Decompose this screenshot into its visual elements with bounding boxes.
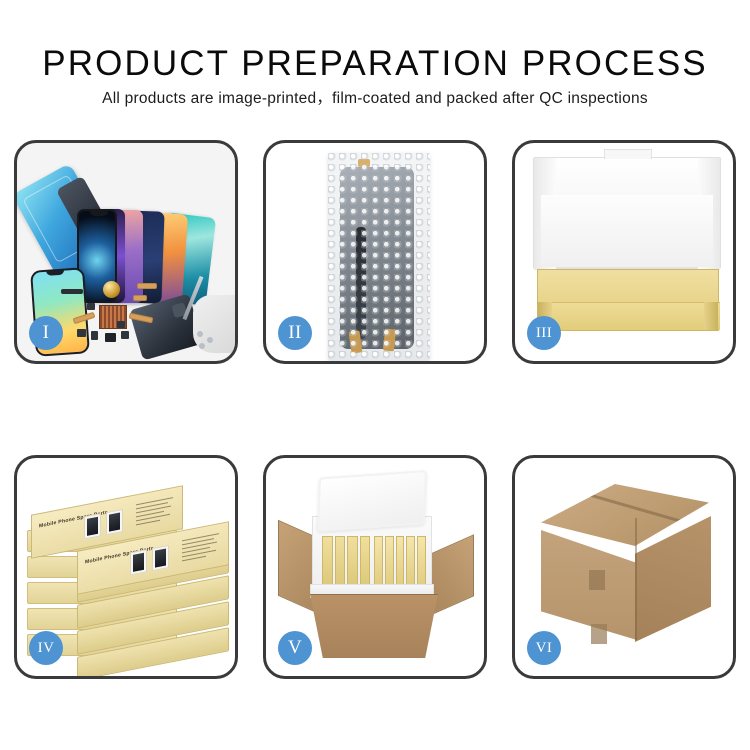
process-step-panel-5[interactable]: V — [263, 455, 487, 679]
process-step-panel-3[interactable]: III — [512, 140, 736, 364]
process-step-panel-6[interactable]: VI — [512, 455, 736, 679]
product-preparation-process-page: PRODUCT PREPARATION PROCESS All products… — [0, 0, 750, 750]
step-badge-3: III — [527, 316, 561, 350]
chip-icon — [87, 303, 95, 310]
box-front-face — [538, 302, 720, 330]
carton-front-face-icon — [310, 594, 438, 658]
product-thumbnail-icon — [152, 545, 169, 571]
product-thumbnail-icon — [130, 549, 147, 575]
step-badge-4: IV — [29, 631, 63, 665]
process-step-panel-2[interactable]: II — [263, 140, 487, 364]
kraft-box-base-icon — [537, 269, 719, 331]
chip-icon — [121, 331, 129, 339]
page-subtitle: All products are image-printed，film-coat… — [0, 89, 750, 109]
carton-tape-icon — [589, 570, 605, 590]
box-right-corner — [704, 302, 718, 330]
step-badge-1: I — [29, 316, 63, 350]
chip-icon — [91, 331, 98, 340]
yellow-boxes-group — [374, 536, 426, 586]
carton-vertical-edge — [635, 518, 637, 640]
step-badge-6: VI — [527, 631, 561, 665]
chip-icon — [77, 329, 86, 337]
earpiece-bar-icon — [61, 289, 83, 294]
bubble-wrap-bag-icon — [328, 153, 430, 361]
process-step-panel-4[interactable]: Mobile Phone Spare Parts Mobile Phone Sp… — [14, 455, 238, 679]
flex-cable-icon — [137, 283, 157, 289]
box-spec-lines — [182, 533, 222, 568]
carton-seam — [573, 489, 693, 526]
foam-box-lid-icon — [317, 470, 427, 532]
page-header: PRODUCT PREPARATION PROCESS All products… — [0, 0, 750, 130]
page-title: PRODUCT PREPARATION PROCESS — [0, 44, 750, 84]
box-spec-lines — [136, 497, 176, 532]
lid-tab-icon — [604, 149, 652, 159]
flex-cable-icon — [133, 295, 147, 301]
process-steps-grid: I II — [14, 140, 737, 683]
foam-sheet-icon — [541, 195, 713, 267]
yellow-boxes-group — [322, 536, 370, 586]
speaker-coil-icon — [103, 281, 120, 298]
step-badge-5: V — [278, 631, 312, 665]
process-step-panel-1[interactable]: I — [14, 140, 238, 364]
chip-icon — [117, 321, 125, 328]
product-thumbnail-icon — [84, 513, 101, 539]
bubble-texture-overlay — [328, 153, 430, 361]
step-badge-2: II — [278, 316, 312, 350]
chip-icon — [105, 333, 116, 342]
product-thumbnail-icon — [106, 509, 123, 535]
carton-tape-icon — [591, 624, 607, 644]
carton-right-flap-icon — [430, 534, 474, 616]
